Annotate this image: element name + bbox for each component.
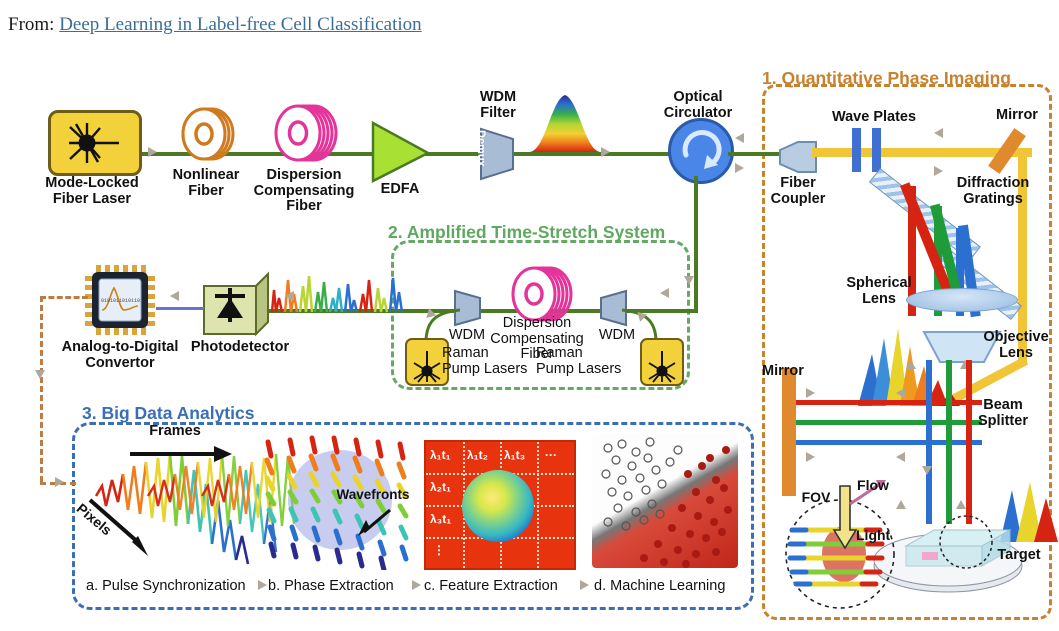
arrow-right-1 — [148, 147, 157, 157]
arrow-caption-2 — [412, 580, 421, 590]
nonlinear-fiber-coil — [172, 104, 240, 164]
light-label: Light — [856, 528, 910, 543]
arrow-left-3 — [285, 291, 294, 301]
arrow-down-3 — [922, 466, 932, 475]
arrow-up-1 — [906, 360, 916, 369]
spherical-lens-label: Spherical Lens — [832, 276, 926, 307]
analog-to-digital-convertor[interactable]: 01010110101101 — [84, 264, 156, 336]
fiber-down-to-timestretch — [694, 176, 698, 313]
matrix-cell-1-0: λ₂t₁ — [430, 480, 451, 494]
dispersion-compensating-fiber-coil — [264, 100, 342, 166]
phase-image-thumbnail — [462, 470, 534, 542]
machine-learning-scatter — [592, 434, 738, 568]
feature-extraction-matrix: λ₁t₁ λ₁t₂ λ₁t₃ ··· λ₂t₁ λ₃t₁ ⋮ — [424, 440, 576, 570]
matrix-cell-2-0: λ₃t₁ — [430, 512, 451, 526]
target-label: Target — [988, 548, 1050, 564]
edfa-label: EDFA — [358, 182, 442, 198]
frames-arrow-icon — [128, 443, 234, 465]
signal-line-adc — [156, 307, 204, 310]
arrow-left-7 — [896, 452, 905, 462]
mirror-left-label: Mirror — [762, 364, 828, 380]
raman-right-label: Raman Pump Lasers — [536, 346, 640, 377]
demux-label: Demux — [475, 130, 487, 167]
beam-green-horizontal — [796, 420, 982, 425]
beam-red-horizontal — [796, 400, 982, 405]
flow-label: Flow — [846, 478, 900, 493]
step-b-caption: b. Phase Extraction — [268, 578, 394, 594]
mirror-top-label: Mirror — [986, 108, 1048, 124]
adc-chip-icon: 01010110101101 — [84, 264, 156, 336]
mode-locked-laser-label: Mode-Locked Fiber Laser — [36, 176, 148, 207]
arrow-caption-1 — [258, 580, 267, 590]
dashed-link-horizontal — [40, 296, 88, 299]
arrow-right-7 — [806, 452, 815, 462]
matrix-cell-0-2: λ₁t₃ — [504, 448, 525, 462]
laser-burst-icon — [67, 121, 123, 165]
fiber-coupler[interactable] — [778, 140, 818, 174]
matrix-cell-0-0: λ₁t₁ — [430, 448, 451, 462]
optical-circulator-label: Optical Circulator — [650, 90, 746, 121]
raman-pump-laser-right[interactable] — [640, 338, 684, 386]
matrix-cell-0-1: λ₁t₂ — [467, 448, 488, 462]
wave-plate-2 — [872, 128, 881, 172]
wave-plate-1 — [852, 128, 861, 172]
arrow-down-1 — [684, 276, 694, 285]
nonlinear-fiber-label: Nonlinear Fiber — [156, 168, 256, 199]
wavefronts-pointer-icon — [356, 506, 396, 538]
arrow-caption-3 — [580, 580, 589, 590]
wave-plates-label: Wave Plates — [822, 110, 926, 126]
scatter-points — [592, 434, 738, 568]
beam-blue-horizontal — [796, 440, 982, 445]
source-attribution: From: Deep Learning in Label-free Cell C… — [8, 14, 422, 36]
raman-left-label: Raman Pump Lasers — [442, 346, 546, 377]
objective-lens-label: Objective Lens — [976, 330, 1056, 361]
arrow-right-4 — [55, 477, 64, 487]
source-prefix: From: — [8, 14, 54, 35]
step-a-caption: a. Pulse Synchronization — [86, 578, 246, 594]
arrow-left-6 — [896, 388, 905, 398]
source-link[interactable]: Deep Learning in Label-free Cell Classif… — [59, 14, 421, 35]
beam-splitter-label: Beam Splitter — [968, 398, 1038, 429]
arrow-left-4 — [170, 291, 179, 301]
matrix-cell-0-3: ··· — [545, 448, 557, 462]
section2-heading: 2. Amplified Time-Stretch System — [388, 222, 665, 243]
arrow-left-5 — [934, 128, 943, 138]
circulator-arrow-icon — [671, 121, 731, 181]
wavefronts-label: Wavefronts — [330, 488, 416, 503]
step-c-caption: c. Feature Extraction — [424, 578, 558, 594]
arrow-down-2 — [35, 370, 45, 379]
photodetector-label: Photodetector — [186, 340, 294, 356]
arrow-right-5 — [934, 166, 943, 176]
spectrum-peak-graphic — [525, 90, 605, 156]
edfa-amplifier[interactable] — [370, 120, 432, 184]
section3-heading: 3. Big Data Analytics — [82, 403, 254, 424]
raman-laser-burst-right-icon — [647, 349, 677, 383]
svg-text:01010110101101: 01010110101101 — [101, 298, 143, 304]
fov-label: FOV — [792, 490, 840, 505]
raman-laser-burst-left-icon — [412, 349, 442, 383]
matrix-cell-3-0: ⋮ — [433, 543, 445, 557]
dashed-link-vertical — [40, 296, 43, 482]
arrow-right-3 — [735, 163, 744, 173]
adc-label: Analog-to-Digital Convertor — [38, 340, 202, 371]
arrow-left-2 — [660, 288, 669, 298]
arrow-left-1 — [735, 133, 744, 143]
step-d-caption: d. Machine Learning — [594, 578, 725, 594]
photodetector[interactable] — [200, 270, 270, 338]
mirror-left — [782, 368, 796, 496]
optical-circulator[interactable] — [668, 118, 734, 184]
frames-label: Frames — [130, 424, 220, 440]
arrow-right-6 — [806, 388, 815, 398]
diffraction-gratings-label: Diffraction Gratings — [942, 176, 1044, 207]
dispersion-fiber-label: Dispersion Compensating Fiber — [242, 168, 366, 215]
section1-heading: 1. Quantitative Phase Imaging — [762, 68, 1011, 89]
mode-locked-fiber-laser[interactable] — [48, 110, 142, 176]
fiber-coupler-label: Fiber Coupler — [756, 176, 840, 207]
